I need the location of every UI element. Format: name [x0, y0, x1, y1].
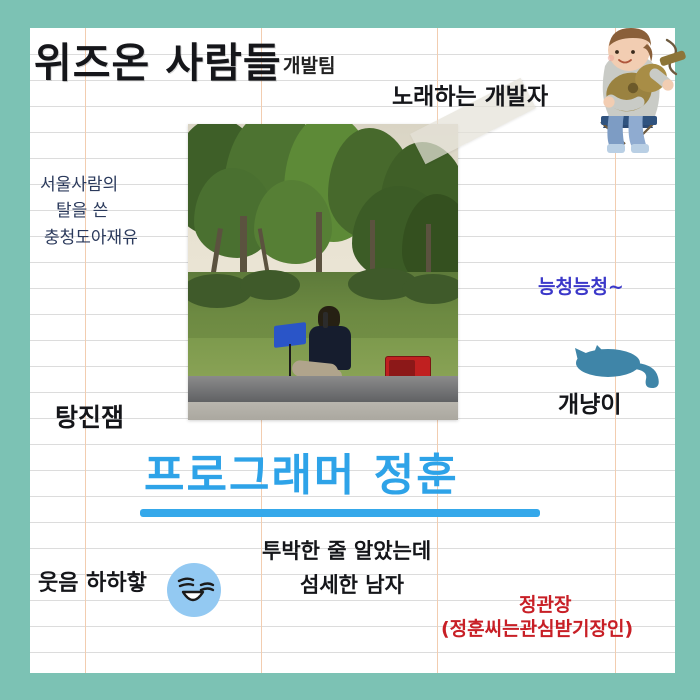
- scrapbook-card: 위즈온 사람들 개발팀 노래하는 개발자 서울사람의 탈을 쓴 충청도아재유 능…: [0, 0, 700, 700]
- guitar-player-illustration: [563, 18, 695, 153]
- rule-line: [30, 522, 675, 523]
- rule-line: [30, 600, 675, 601]
- photo-curb: [188, 376, 458, 404]
- cat-label: 개냥이: [558, 391, 621, 420]
- laugh-label: 웃음 하하핳: [38, 570, 147, 598]
- subtitle-line-2: 섬세한 남자: [300, 572, 404, 598]
- photo-pavement: [188, 402, 458, 420]
- photo-microphone: [323, 312, 328, 328]
- laughing-face-sticker: [167, 563, 221, 617]
- page-title: 위즈온 사람들: [34, 38, 282, 89]
- seoul-note-line3: 충청도아재유: [44, 228, 138, 248]
- main-headline: 프로그래머 정훈: [144, 448, 459, 503]
- subtitle-line-1: 투박한 줄 알았는데: [262, 538, 431, 564]
- singing-developer-label: 노래하는 개발자: [392, 83, 548, 112]
- red-note-line-2: (정훈씨는관심받기장인): [441, 618, 633, 642]
- rule-line: [30, 444, 675, 445]
- park-busking-photo: [188, 124, 458, 420]
- dev-team-label: 개발팀: [283, 55, 335, 79]
- seoul-note: 서울사람의 탈을 쓴 충청도아재유: [40, 172, 138, 251]
- seoul-note-line2: 탈을 쓴: [56, 201, 108, 221]
- cat-silhouette-icon: [564, 345, 664, 389]
- headline-underline: [140, 509, 540, 517]
- seoul-note-line1: 서울사람의: [40, 175, 118, 195]
- rule-line: [30, 652, 675, 653]
- nungcheong-label: 능청능청~: [538, 276, 624, 300]
- red-note-line-1: 정관장: [519, 594, 571, 618]
- tangjinjaem-label: 탕진잼: [55, 402, 124, 433]
